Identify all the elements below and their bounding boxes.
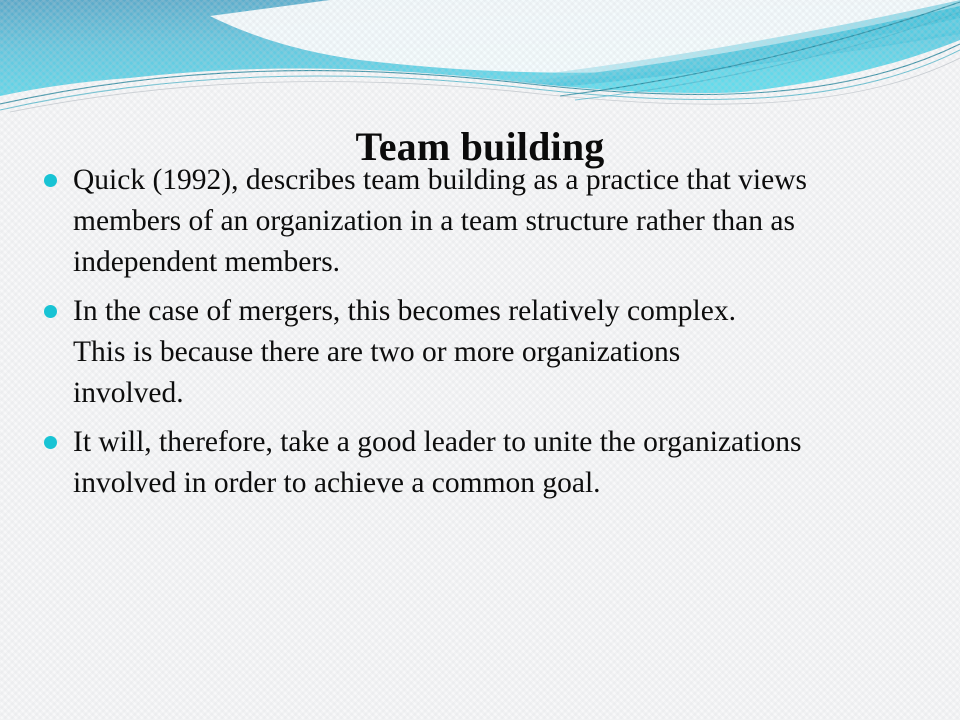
bullet-dot-icon bbox=[44, 305, 57, 318]
bullet-text: It will, therefore, take a good leader t… bbox=[73, 422, 863, 504]
list-item: Quick (1992), describes team building as… bbox=[44, 160, 924, 283]
bullet-dot-icon bbox=[44, 174, 57, 187]
bullet-dot-icon bbox=[44, 436, 57, 449]
bullet-text: Quick (1992), describes team building as… bbox=[73, 160, 808, 283]
wave-header-graphic bbox=[0, 0, 960, 120]
list-item: It will, therefore, take a good leader t… bbox=[44, 422, 924, 504]
slide-canvas: Team building Quick (1992), describes te… bbox=[0, 0, 960, 720]
bullet-text: In the case of mergers, this becomes rel… bbox=[73, 291, 773, 414]
bullet-list: Quick (1992), describes team building as… bbox=[44, 160, 924, 512]
list-item: In the case of mergers, this becomes rel… bbox=[44, 291, 924, 414]
